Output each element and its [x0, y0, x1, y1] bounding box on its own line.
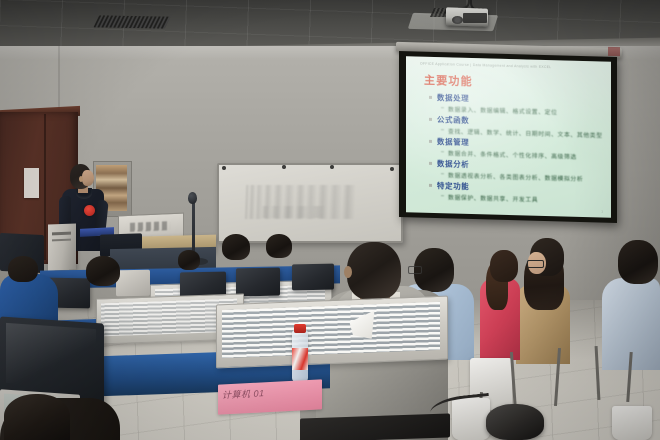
whiteboard-clip-icon	[330, 165, 334, 169]
glasses-icon	[527, 260, 544, 268]
folding-chair	[612, 406, 652, 440]
foreground-monitor-glare	[6, 323, 96, 389]
computer-mouse[interactable]	[486, 404, 544, 440]
keyboard[interactable]	[300, 413, 450, 440]
right-man-head	[618, 240, 658, 284]
slide-header-text: OFFICE Application Course | Data Managem…	[420, 62, 551, 70]
projector-lens-icon	[452, 16, 463, 24]
slide-bullet-list: 数据处理 数据录入、数据编辑、格式设置、定位 公式函数 查找、逻辑、数学、统计、…	[428, 92, 606, 207]
presenter-ear	[79, 176, 83, 182]
slide-title: 主要功能	[424, 72, 473, 89]
water-bottle-cap	[294, 324, 306, 333]
foreground-partition-glass	[222, 302, 440, 358]
whiteboard-writing-secondary	[258, 206, 342, 218]
foreground-person-head	[4, 394, 70, 440]
presenter-shirt-logo	[84, 205, 95, 216]
whiteboard-clip-icon	[390, 167, 394, 171]
slide-bullet-group: 数据处理 数据录入、数据编辑、格式设置、定位	[428, 92, 606, 117]
paper-notice	[24, 168, 39, 198]
seated-person-head	[222, 234, 250, 260]
classroom-photo: OFFICE Application Course | Data Managem…	[0, 0, 660, 440]
ceiling-vent-icon	[93, 15, 170, 28]
foreground-man-ear	[344, 266, 352, 278]
presenter-face	[82, 170, 94, 186]
slide-bullet-group: 特定功能 数据保护、数据共享、开发工具	[428, 180, 606, 205]
seated-person-head	[178, 250, 200, 270]
girl-pink-top-head	[490, 250, 518, 282]
glasses-icon	[408, 266, 422, 274]
slide-bullet-group: 数据分析 数据透视表分析、各类图表分析、数据模拟分析	[428, 158, 606, 183]
projection-screen: OFFICE Application Course | Data Managem…	[406, 56, 611, 218]
foreground-man-head	[347, 242, 401, 300]
seated-person-head	[86, 256, 120, 286]
left-person-head	[8, 256, 38, 282]
monitor	[292, 264, 334, 291]
water-bottle-label	[292, 348, 308, 370]
monitor-silver	[116, 270, 150, 297]
slide-bullet-group: 公式函数 查找、逻辑、数学、统计、日期时间、文本、其他类型	[428, 114, 606, 139]
microphone-icon	[188, 192, 197, 204]
seated-person-head	[266, 234, 292, 258]
whiteboard-clip-icon	[282, 165, 286, 169]
slide-page-number: 1	[601, 210, 603, 214]
slide-bullet-group: 数据管理 数据合并、条件格式、个性化排序、高级筛选	[428, 136, 606, 161]
whiteboard-clip-icon	[222, 166, 226, 170]
projector-body	[463, 13, 487, 23]
desktop-pc-tower	[48, 224, 76, 271]
cabinet-door-seam	[44, 114, 46, 260]
projection-screen-roller-end	[608, 47, 620, 56]
lectern-nameplate-text	[130, 221, 170, 232]
monitor	[236, 268, 280, 297]
